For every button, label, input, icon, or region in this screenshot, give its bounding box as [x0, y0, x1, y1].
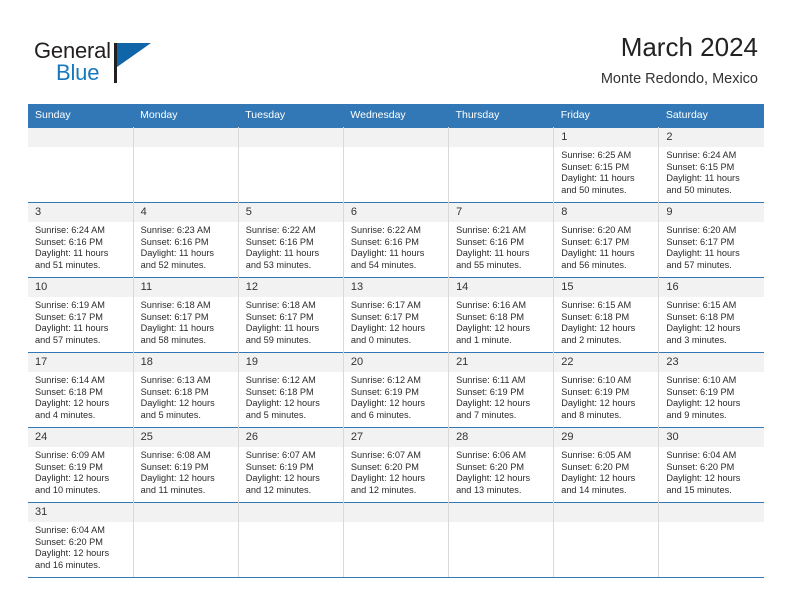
weekday-header-saturday: Saturday — [659, 104, 764, 128]
calendar-day-cell[interactable]: 27Sunrise: 6:07 AMSunset: 6:20 PMDayligh… — [343, 428, 448, 503]
sunrise-time: Sunrise: 6:09 AM — [35, 450, 128, 462]
daylight-duration-line1: Daylight: 11 hours — [35, 323, 128, 335]
calendar-empty-cell — [28, 128, 133, 203]
daylight-duration-line2: and 15 minutes. — [666, 485, 759, 497]
daylight-duration-line1: Daylight: 11 hours — [246, 323, 338, 335]
calendar-day-cell[interactable]: 12Sunrise: 6:18 AMSunset: 6:17 PMDayligh… — [238, 278, 343, 353]
sunrise-time: Sunrise: 6:20 AM — [666, 225, 759, 237]
daylight-duration-line1: Daylight: 12 hours — [351, 323, 443, 335]
day-number: 9 — [659, 203, 764, 222]
calendar-week-row: 10Sunrise: 6:19 AMSunset: 6:17 PMDayligh… — [28, 278, 764, 353]
sunset-time: Sunset: 6:18 PM — [456, 312, 548, 324]
daylight-duration-line2: and 53 minutes. — [246, 260, 338, 272]
day-number: 11 — [134, 278, 238, 297]
sunset-time: Sunset: 6:18 PM — [666, 312, 759, 324]
day-details: Sunrise: 6:07 AMSunset: 6:19 PMDaylight:… — [239, 447, 343, 496]
calendar-day-cell[interactable]: 15Sunrise: 6:15 AMSunset: 6:18 PMDayligh… — [554, 278, 659, 353]
day-number: 13 — [344, 278, 448, 297]
day-number: 14 — [449, 278, 553, 297]
day-number: 3 — [28, 203, 133, 222]
calendar-day-cell[interactable]: 3Sunrise: 6:24 AMSunset: 6:16 PMDaylight… — [28, 203, 133, 278]
calendar-empty-cell — [449, 128, 554, 203]
calendar-week-row: 24Sunrise: 6:09 AMSunset: 6:19 PMDayligh… — [28, 428, 764, 503]
day-number: 17 — [28, 353, 133, 372]
day-number — [239, 128, 343, 147]
sunset-time: Sunset: 6:19 PM — [561, 387, 653, 399]
weekday-header-sunday: Sunday — [28, 104, 133, 128]
daylight-duration-line1: Daylight: 12 hours — [35, 473, 128, 485]
sunrise-time: Sunrise: 6:06 AM — [456, 450, 548, 462]
day-details: Sunrise: 6:22 AMSunset: 6:16 PMDaylight:… — [344, 222, 448, 271]
day-details: Sunrise: 6:22 AMSunset: 6:16 PMDaylight:… — [239, 222, 343, 271]
daylight-duration-line2: and 50 minutes. — [561, 185, 653, 197]
day-number — [239, 503, 343, 522]
day-number: 24 — [28, 428, 133, 447]
daylight-duration-line2: and 54 minutes. — [351, 260, 443, 272]
sunrise-sunset-calendar: Sunday Monday Tuesday Wednesday Thursday… — [28, 104, 764, 578]
sunset-time: Sunset: 6:16 PM — [246, 237, 338, 249]
calendar-empty-cell — [133, 128, 238, 203]
sunset-time: Sunset: 6:19 PM — [246, 462, 338, 474]
day-details: Sunrise: 6:11 AMSunset: 6:19 PMDaylight:… — [449, 372, 553, 421]
calendar-day-cell[interactable]: 31Sunrise: 6:04 AMSunset: 6:20 PMDayligh… — [28, 503, 133, 578]
calendar-day-cell[interactable]: 13Sunrise: 6:17 AMSunset: 6:17 PMDayligh… — [343, 278, 448, 353]
day-number: 8 — [554, 203, 658, 222]
calendar-day-cell[interactable]: 1Sunrise: 6:25 AMSunset: 6:15 PMDaylight… — [554, 128, 659, 203]
calendar-day-cell[interactable]: 25Sunrise: 6:08 AMSunset: 6:19 PMDayligh… — [133, 428, 238, 503]
daylight-duration-line1: Daylight: 11 hours — [456, 248, 548, 260]
day-number — [344, 503, 448, 522]
day-number: 28 — [449, 428, 553, 447]
sunset-time: Sunset: 6:18 PM — [141, 387, 233, 399]
day-details: Sunrise: 6:13 AMSunset: 6:18 PMDaylight:… — [134, 372, 238, 421]
calendar-day-cell[interactable]: 29Sunrise: 6:05 AMSunset: 6:20 PMDayligh… — [554, 428, 659, 503]
daylight-duration-line1: Daylight: 12 hours — [561, 323, 653, 335]
calendar-day-cell[interactable]: 7Sunrise: 6:21 AMSunset: 6:16 PMDaylight… — [449, 203, 554, 278]
daylight-duration-line1: Daylight: 12 hours — [351, 473, 443, 485]
sunset-time: Sunset: 6:17 PM — [141, 312, 233, 324]
sunrise-time: Sunrise: 6:18 AM — [141, 300, 233, 312]
calendar-day-cell[interactable]: 18Sunrise: 6:13 AMSunset: 6:18 PMDayligh… — [133, 353, 238, 428]
day-number — [28, 128, 133, 147]
day-number: 1 — [554, 128, 658, 147]
daylight-duration-line1: Daylight: 12 hours — [246, 473, 338, 485]
daylight-duration-line1: Daylight: 12 hours — [35, 398, 128, 410]
day-number: 22 — [554, 353, 658, 372]
day-number — [134, 128, 238, 147]
sunrise-time: Sunrise: 6:15 AM — [561, 300, 653, 312]
calendar-day-cell[interactable]: 2Sunrise: 6:24 AMSunset: 6:15 PMDaylight… — [659, 128, 764, 203]
sunrise-time: Sunrise: 6:07 AM — [351, 450, 443, 462]
page-title: March 2024 — [601, 30, 758, 64]
sunset-time: Sunset: 6:16 PM — [35, 237, 128, 249]
day-details: Sunrise: 6:06 AMSunset: 6:20 PMDaylight:… — [449, 447, 553, 496]
sunrise-time: Sunrise: 6:14 AM — [35, 375, 128, 387]
day-details: Sunrise: 6:19 AMSunset: 6:17 PMDaylight:… — [28, 297, 133, 346]
day-number: 6 — [344, 203, 448, 222]
day-number: 26 — [239, 428, 343, 447]
sunset-time: Sunset: 6:17 PM — [666, 237, 759, 249]
daylight-duration-line1: Daylight: 11 hours — [246, 248, 338, 260]
sunrise-time: Sunrise: 6:12 AM — [351, 375, 443, 387]
weekday-header-tuesday: Tuesday — [238, 104, 343, 128]
daylight-duration-line2: and 4 minutes. — [35, 410, 128, 422]
sunrise-time: Sunrise: 6:22 AM — [351, 225, 443, 237]
daylight-duration-line1: Daylight: 12 hours — [666, 473, 759, 485]
sunset-time: Sunset: 6:16 PM — [456, 237, 548, 249]
weekday-header-monday: Monday — [133, 104, 238, 128]
day-number: 4 — [134, 203, 238, 222]
calendar-day-cell[interactable]: 23Sunrise: 6:10 AMSunset: 6:19 PMDayligh… — [659, 353, 764, 428]
weekday-header-friday: Friday — [554, 104, 659, 128]
day-number — [449, 503, 553, 522]
calendar-week-row: 3Sunrise: 6:24 AMSunset: 6:16 PMDaylight… — [28, 203, 764, 278]
sunset-time: Sunset: 6:16 PM — [141, 237, 233, 249]
weekday-header-wednesday: Wednesday — [343, 104, 448, 128]
calendar-day-cell[interactable]: 19Sunrise: 6:12 AMSunset: 6:18 PMDayligh… — [238, 353, 343, 428]
sunset-time: Sunset: 6:19 PM — [351, 387, 443, 399]
daylight-duration-line2: and 5 minutes. — [246, 410, 338, 422]
day-number: 29 — [554, 428, 658, 447]
page-subtitle: Monte Redondo, Mexico — [601, 68, 758, 90]
day-number: 31 — [28, 503, 133, 522]
sunrise-time: Sunrise: 6:20 AM — [561, 225, 653, 237]
day-details: Sunrise: 6:25 AMSunset: 6:15 PMDaylight:… — [554, 147, 658, 196]
daylight-duration-line2: and 12 minutes. — [351, 485, 443, 497]
sunset-time: Sunset: 6:19 PM — [456, 387, 548, 399]
calendar-empty-cell — [343, 128, 448, 203]
logo-flag-icon — [117, 43, 151, 67]
title-block: March 2024 Monte Redondo, Mexico — [601, 30, 758, 90]
sunrise-time: Sunrise: 6:21 AM — [456, 225, 548, 237]
calendar-day-cell[interactable]: 5Sunrise: 6:22 AMSunset: 6:16 PMDaylight… — [238, 203, 343, 278]
sunset-time: Sunset: 6:17 PM — [246, 312, 338, 324]
daylight-duration-line1: Daylight: 12 hours — [141, 398, 233, 410]
day-number — [134, 503, 238, 522]
daylight-duration-line2: and 8 minutes. — [561, 410, 653, 422]
daylight-duration-line1: Daylight: 11 hours — [141, 323, 233, 335]
day-details: Sunrise: 6:20 AMSunset: 6:17 PMDaylight:… — [554, 222, 658, 271]
sunrise-time: Sunrise: 6:08 AM — [141, 450, 233, 462]
day-number: 27 — [344, 428, 448, 447]
sunset-time: Sunset: 6:15 PM — [666, 162, 759, 174]
daylight-duration-line2: and 9 minutes. — [666, 410, 759, 422]
day-details: Sunrise: 6:10 AMSunset: 6:19 PMDaylight:… — [554, 372, 658, 421]
sunset-time: Sunset: 6:19 PM — [141, 462, 233, 474]
daylight-duration-line2: and 51 minutes. — [35, 260, 128, 272]
day-details: Sunrise: 6:24 AMSunset: 6:16 PMDaylight:… — [28, 222, 133, 271]
calendar-day-cell[interactable]: 22Sunrise: 6:10 AMSunset: 6:19 PMDayligh… — [554, 353, 659, 428]
daylight-duration-line1: Daylight: 12 hours — [666, 323, 759, 335]
calendar-empty-cell — [554, 503, 659, 578]
sunrise-time: Sunrise: 6:18 AM — [246, 300, 338, 312]
day-details: Sunrise: 6:18 AMSunset: 6:17 PMDaylight:… — [239, 297, 343, 346]
day-number: 20 — [344, 353, 448, 372]
calendar-day-cell[interactable]: 30Sunrise: 6:04 AMSunset: 6:20 PMDayligh… — [659, 428, 764, 503]
daylight-duration-line2: and 59 minutes. — [246, 335, 338, 347]
sunset-time: Sunset: 6:17 PM — [561, 237, 653, 249]
sunset-time: Sunset: 6:20 PM — [456, 462, 548, 474]
day-number: 12 — [239, 278, 343, 297]
sunrise-time: Sunrise: 6:07 AM — [246, 450, 338, 462]
calendar-empty-cell — [659, 503, 764, 578]
general-blue-logo[interactable]: General Blue — [34, 38, 174, 90]
day-number: 18 — [134, 353, 238, 372]
weekday-header-thursday: Thursday — [449, 104, 554, 128]
daylight-duration-line1: Daylight: 12 hours — [141, 473, 233, 485]
daylight-duration-line1: Daylight: 12 hours — [35, 548, 128, 560]
day-number: 2 — [659, 128, 764, 147]
day-number: 19 — [239, 353, 343, 372]
daylight-duration-line2: and 16 minutes. — [35, 560, 128, 572]
daylight-duration-line2: and 14 minutes. — [561, 485, 653, 497]
daylight-duration-line1: Daylight: 12 hours — [246, 398, 338, 410]
daylight-duration-line2: and 57 minutes. — [666, 260, 759, 272]
calendar-day-cell[interactable]: 16Sunrise: 6:15 AMSunset: 6:18 PMDayligh… — [659, 278, 764, 353]
daylight-duration-line2: and 56 minutes. — [561, 260, 653, 272]
sunrise-time: Sunrise: 6:04 AM — [666, 450, 759, 462]
calendar-body: 1Sunrise: 6:25 AMSunset: 6:15 PMDaylight… — [28, 128, 764, 578]
calendar-day-cell[interactable]: 8Sunrise: 6:20 AMSunset: 6:17 PMDaylight… — [554, 203, 659, 278]
day-details: Sunrise: 6:15 AMSunset: 6:18 PMDaylight:… — [659, 297, 764, 346]
calendar-day-cell[interactable]: 4Sunrise: 6:23 AMSunset: 6:16 PMDaylight… — [133, 203, 238, 278]
day-number: 7 — [449, 203, 553, 222]
day-number — [344, 128, 448, 147]
sunrise-time: Sunrise: 6:22 AM — [246, 225, 338, 237]
sunrise-time: Sunrise: 6:04 AM — [35, 525, 128, 537]
daylight-duration-line1: Daylight: 11 hours — [141, 248, 233, 260]
daylight-duration-line1: Daylight: 11 hours — [351, 248, 443, 260]
day-number — [449, 128, 553, 147]
daylight-duration-line1: Daylight: 11 hours — [666, 173, 759, 185]
day-number: 30 — [659, 428, 764, 447]
daylight-duration-line1: Daylight: 11 hours — [561, 173, 653, 185]
day-details: Sunrise: 6:04 AMSunset: 6:20 PMDaylight:… — [659, 447, 764, 496]
daylight-duration-line2: and 13 minutes. — [456, 485, 548, 497]
daylight-duration-line2: and 6 minutes. — [351, 410, 443, 422]
calendar-page: General Blue March 2024 Monte Redondo, M… — [0, 0, 792, 612]
sunrise-time: Sunrise: 6:11 AM — [456, 375, 548, 387]
daylight-duration-line1: Daylight: 11 hours — [666, 248, 759, 260]
calendar-week-row: 17Sunrise: 6:14 AMSunset: 6:18 PMDayligh… — [28, 353, 764, 428]
page-header: General Blue March 2024 Monte Redondo, M… — [0, 0, 792, 104]
sunrise-time: Sunrise: 6:16 AM — [456, 300, 548, 312]
day-details: Sunrise: 6:12 AMSunset: 6:19 PMDaylight:… — [344, 372, 448, 421]
calendar-week-row: 31Sunrise: 6:04 AMSunset: 6:20 PMDayligh… — [28, 503, 764, 578]
sunrise-time: Sunrise: 6:05 AM — [561, 450, 653, 462]
sunset-time: Sunset: 6:20 PM — [666, 462, 759, 474]
daylight-duration-line2: and 52 minutes. — [141, 260, 233, 272]
sunset-time: Sunset: 6:20 PM — [35, 537, 128, 549]
day-details: Sunrise: 6:12 AMSunset: 6:18 PMDaylight:… — [239, 372, 343, 421]
sunrise-time: Sunrise: 6:15 AM — [666, 300, 759, 312]
sunrise-time: Sunrise: 6:17 AM — [351, 300, 443, 312]
sunrise-time: Sunrise: 6:25 AM — [561, 150, 653, 162]
day-details: Sunrise: 6:23 AMSunset: 6:16 PMDaylight:… — [134, 222, 238, 271]
sunrise-time: Sunrise: 6:10 AM — [666, 375, 759, 387]
day-details: Sunrise: 6:17 AMSunset: 6:17 PMDaylight:… — [344, 297, 448, 346]
daylight-duration-line2: and 58 minutes. — [141, 335, 233, 347]
sunset-time: Sunset: 6:19 PM — [666, 387, 759, 399]
day-details: Sunrise: 6:04 AMSunset: 6:20 PMDaylight:… — [28, 522, 133, 571]
day-details: Sunrise: 6:05 AMSunset: 6:20 PMDaylight:… — [554, 447, 658, 496]
daylight-duration-line1: Daylight: 12 hours — [456, 398, 548, 410]
day-details: Sunrise: 6:20 AMSunset: 6:17 PMDaylight:… — [659, 222, 764, 271]
calendar-day-cell[interactable]: 6Sunrise: 6:22 AMSunset: 6:16 PMDaylight… — [343, 203, 448, 278]
daylight-duration-line1: Daylight: 12 hours — [561, 398, 653, 410]
day-details: Sunrise: 6:14 AMSunset: 6:18 PMDaylight:… — [28, 372, 133, 421]
sunrise-time: Sunrise: 6:24 AM — [666, 150, 759, 162]
sunset-time: Sunset: 6:20 PM — [561, 462, 653, 474]
sunset-time: Sunset: 6:17 PM — [35, 312, 128, 324]
calendar-day-cell[interactable]: 28Sunrise: 6:06 AMSunset: 6:20 PMDayligh… — [449, 428, 554, 503]
daylight-duration-line2: and 1 minute. — [456, 335, 548, 347]
daylight-duration-line2: and 11 minutes. — [141, 485, 233, 497]
sunset-time: Sunset: 6:16 PM — [351, 237, 443, 249]
calendar-day-cell[interactable]: 14Sunrise: 6:16 AMSunset: 6:18 PMDayligh… — [449, 278, 554, 353]
sunset-time: Sunset: 6:18 PM — [246, 387, 338, 399]
day-number: 21 — [449, 353, 553, 372]
day-details: Sunrise: 6:09 AMSunset: 6:19 PMDaylight:… — [28, 447, 133, 496]
sunrise-time: Sunrise: 6:24 AM — [35, 225, 128, 237]
daylight-duration-line2: and 55 minutes. — [456, 260, 548, 272]
day-number — [659, 503, 764, 522]
daylight-duration-line1: Daylight: 12 hours — [351, 398, 443, 410]
day-details: Sunrise: 6:08 AMSunset: 6:19 PMDaylight:… — [134, 447, 238, 496]
sunset-time: Sunset: 6:19 PM — [35, 462, 128, 474]
daylight-duration-line1: Daylight: 12 hours — [456, 323, 548, 335]
daylight-duration-line2: and 0 minutes. — [351, 335, 443, 347]
calendar-day-cell[interactable]: 17Sunrise: 6:14 AMSunset: 6:18 PMDayligh… — [28, 353, 133, 428]
daylight-duration-line1: Daylight: 12 hours — [666, 398, 759, 410]
calendar-empty-cell — [238, 128, 343, 203]
day-number: 5 — [239, 203, 343, 222]
sunset-time: Sunset: 6:20 PM — [351, 462, 443, 474]
sunrise-time: Sunrise: 6:19 AM — [35, 300, 128, 312]
daylight-duration-line2: and 57 minutes. — [35, 335, 128, 347]
daylight-duration-line2: and 7 minutes. — [456, 410, 548, 422]
day-details: Sunrise: 6:10 AMSunset: 6:19 PMDaylight:… — [659, 372, 764, 421]
calendar-day-cell[interactable]: 20Sunrise: 6:12 AMSunset: 6:19 PMDayligh… — [343, 353, 448, 428]
daylight-duration-line1: Daylight: 11 hours — [561, 248, 653, 260]
day-details: Sunrise: 6:07 AMSunset: 6:20 PMDaylight:… — [344, 447, 448, 496]
daylight-duration-line2: and 12 minutes. — [246, 485, 338, 497]
calendar-header-row: Sunday Monday Tuesday Wednesday Thursday… — [28, 104, 764, 128]
calendar-day-cell[interactable]: 21Sunrise: 6:11 AMSunset: 6:19 PMDayligh… — [449, 353, 554, 428]
sunrise-time: Sunrise: 6:10 AM — [561, 375, 653, 387]
day-details: Sunrise: 6:24 AMSunset: 6:15 PMDaylight:… — [659, 147, 764, 196]
daylight-duration-line1: Daylight: 11 hours — [35, 248, 128, 260]
calendar-day-cell[interactable]: 9Sunrise: 6:20 AMSunset: 6:17 PMDaylight… — [659, 203, 764, 278]
calendar-empty-cell — [238, 503, 343, 578]
day-number — [554, 503, 658, 522]
day-number: 10 — [28, 278, 133, 297]
daylight-duration-line1: Daylight: 12 hours — [561, 473, 653, 485]
sunset-time: Sunset: 6:15 PM — [561, 162, 653, 174]
sunset-time: Sunset: 6:18 PM — [35, 387, 128, 399]
day-number: 15 — [554, 278, 658, 297]
daylight-duration-line2: and 2 minutes. — [561, 335, 653, 347]
calendar-day-cell[interactable]: 26Sunrise: 6:07 AMSunset: 6:19 PMDayligh… — [238, 428, 343, 503]
calendar-week-row: 1Sunrise: 6:25 AMSunset: 6:15 PMDaylight… — [28, 128, 764, 203]
sunset-time: Sunset: 6:18 PM — [561, 312, 653, 324]
calendar-day-cell[interactable]: 24Sunrise: 6:09 AMSunset: 6:19 PMDayligh… — [28, 428, 133, 503]
calendar-empty-cell — [449, 503, 554, 578]
daylight-duration-line2: and 10 minutes. — [35, 485, 128, 497]
day-number: 25 — [134, 428, 238, 447]
day-details: Sunrise: 6:15 AMSunset: 6:18 PMDaylight:… — [554, 297, 658, 346]
sunrise-time: Sunrise: 6:12 AM — [246, 375, 338, 387]
sunrise-time: Sunrise: 6:23 AM — [141, 225, 233, 237]
daylight-duration-line1: Daylight: 12 hours — [456, 473, 548, 485]
sunrise-time: Sunrise: 6:13 AM — [141, 375, 233, 387]
day-details: Sunrise: 6:18 AMSunset: 6:17 PMDaylight:… — [134, 297, 238, 346]
sunset-time: Sunset: 6:17 PM — [351, 312, 443, 324]
day-number: 23 — [659, 353, 764, 372]
day-details: Sunrise: 6:16 AMSunset: 6:18 PMDaylight:… — [449, 297, 553, 346]
calendar-day-cell[interactable]: 10Sunrise: 6:19 AMSunset: 6:17 PMDayligh… — [28, 278, 133, 353]
logo-text-blue: Blue — [56, 60, 99, 86]
daylight-duration-line2: and 50 minutes. — [666, 185, 759, 197]
calendar-empty-cell — [133, 503, 238, 578]
day-number: 16 — [659, 278, 764, 297]
daylight-duration-line2: and 3 minutes. — [666, 335, 759, 347]
daylight-duration-line2: and 5 minutes. — [141, 410, 233, 422]
calendar-empty-cell — [343, 503, 448, 578]
calendar-day-cell[interactable]: 11Sunrise: 6:18 AMSunset: 6:17 PMDayligh… — [133, 278, 238, 353]
day-details: Sunrise: 6:21 AMSunset: 6:16 PMDaylight:… — [449, 222, 553, 271]
